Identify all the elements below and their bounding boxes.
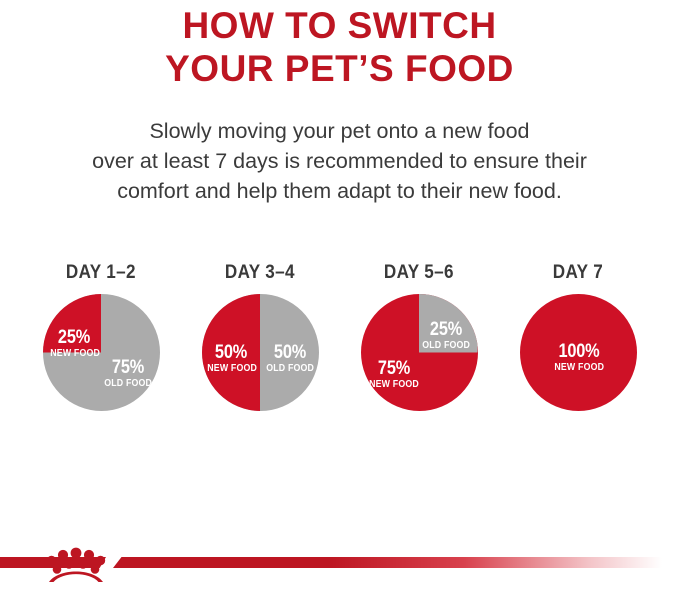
pie-label-pct: 100% — [554, 342, 602, 361]
day-label-3: DAY 5–6 — [384, 262, 454, 284]
page-title-line-2: YOUR PET’S FOOD — [0, 47, 679, 90]
pie-chart-day-7: 100% NEW FOOD — [520, 294, 637, 411]
pie-label-who: NEW FOOD — [554, 363, 603, 373]
page-title: HOW TO SWITCH YOUR PET’S FOOD — [0, 4, 679, 90]
pie-label-new-food-2: 50% NEW FOOD — [204, 343, 258, 374]
day-label-4: DAY 7 — [553, 262, 603, 284]
pie-label-pct: 25% — [50, 328, 96, 347]
footer-bar-right — [113, 557, 679, 568]
pie-cell-day-7: DAY 7 100% NEW FOOD — [515, 262, 641, 437]
pie-cell-day-3-4: DAY 3–4 50% NEW FOOD 50% OLD FOOD — [197, 262, 323, 437]
pie-label-who: OLD FOOD — [104, 379, 152, 389]
pie-chart-day-3-4: 50% NEW FOOD 50% OLD FOOD — [202, 294, 319, 411]
footer — [0, 540, 679, 594]
page-title-line-1: HOW TO SWITCH — [0, 4, 679, 47]
pie-chart-day-1-2: 25% NEW FOOD 75% OLD FOOD — [43, 294, 160, 411]
pie-label-pct: 25% — [422, 320, 468, 339]
intro-line-1: Slowly moving your pet onto a new food — [10, 116, 669, 146]
day-label-1: DAY 1–2 — [66, 262, 136, 284]
pie-label-new-food-4: 100% NEW FOOD — [551, 342, 607, 373]
pie-label-old-food-3: 25% OLD FOOD — [419, 320, 473, 351]
pie-label-pct: 50% — [207, 343, 253, 362]
day-label-2: DAY 3–4 — [225, 262, 295, 284]
pie-label-who: NEW FOOD — [207, 364, 255, 374]
pie-label-pct: 75% — [369, 359, 419, 378]
intro-paragraph: Slowly moving your pet onto a new food o… — [10, 116, 669, 206]
pie-cell-day-5-6: DAY 5–6 25% OLD FOOD 75% NEW FOOD — [356, 262, 482, 437]
pie-label-old-food-2: 50% OLD FOOD — [263, 343, 317, 374]
pie-label-new-food-1: 25% NEW FOOD — [47, 328, 101, 359]
pie-chart-row: DAY 1–2 25% NEW FOOD 75% OLD FOOD DAY 3–… — [0, 262, 679, 437]
pie-chart-day-5-6: 25% OLD FOOD 75% NEW FOOD — [361, 294, 478, 411]
intro-line-2: over at least 7 days is recommended to e… — [10, 146, 669, 176]
pie-label-old-food-1: 75% OLD FOOD — [101, 358, 155, 389]
pie-label-who: OLD FOOD — [266, 364, 314, 374]
pie-label-who: OLD FOOD — [422, 341, 470, 351]
pie-label-pct: 50% — [266, 343, 312, 362]
pie-cell-day-1-2: DAY 1–2 25% NEW FOOD 75% OLD FOOD — [38, 262, 164, 437]
pie-label-who: NEW FOOD — [50, 349, 98, 359]
pie-label-pct: 75% — [104, 358, 150, 377]
pie-label-new-food-3: 75% NEW FOOD — [365, 359, 423, 390]
intro-line-3: comfort and help them adapt to their new… — [10, 176, 669, 206]
royal-canin-crown-icon — [41, 544, 111, 584]
pie-label-who: NEW FOOD — [368, 380, 419, 390]
